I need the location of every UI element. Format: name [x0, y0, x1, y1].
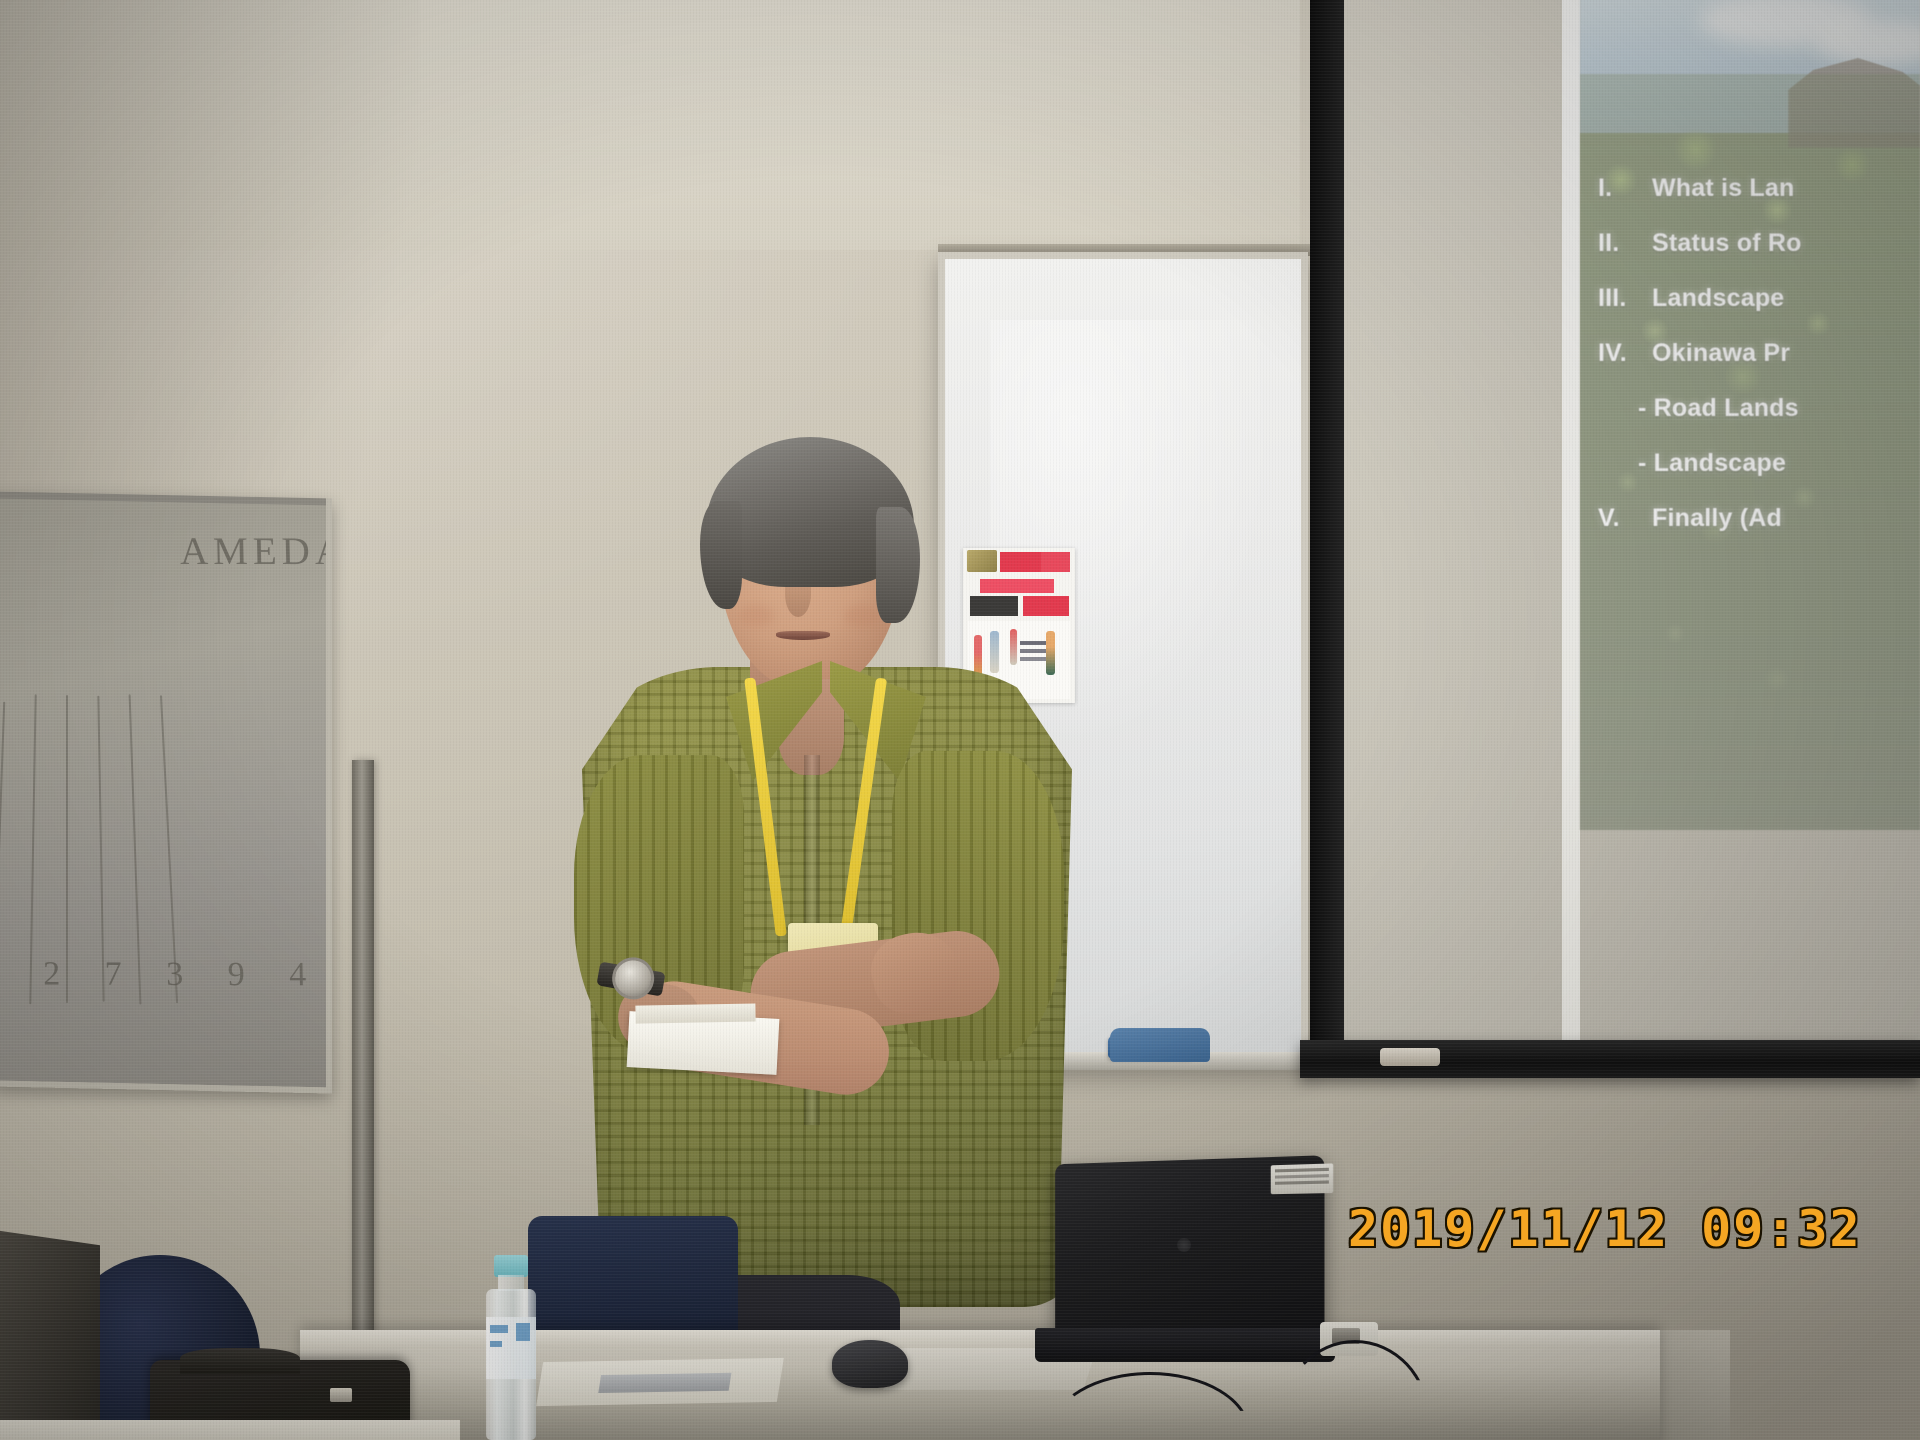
cheek-left — [738, 605, 774, 627]
computer-mouse — [832, 1340, 908, 1388]
sticker-text-line — [1275, 1168, 1329, 1173]
label-mark — [516, 1323, 530, 1341]
slide-item-number: III. — [1598, 286, 1652, 311]
left-whiteboard-surface: AMEDA 6 2 7 3 9 4 8 — [0, 497, 326, 1087]
slide-item-text: Status of Ro — [1652, 231, 1802, 256]
bottle-label — [486, 1317, 536, 1379]
slide-item-text: What is Lan — [1652, 176, 1794, 201]
mouth — [776, 631, 830, 640]
chair-backrest — [528, 1216, 738, 1346]
foreground-panel — [0, 1228, 100, 1440]
laptop-asset-sticker — [1271, 1163, 1334, 1194]
slide-agenda-item: I. What is Lan — [1598, 176, 1920, 201]
projector-screen-left-frame — [1310, 0, 1344, 1045]
plastic-water-bottle — [478, 1255, 544, 1440]
wristwatch — [594, 948, 668, 1011]
handout-papers — [627, 1011, 780, 1075]
watch-face — [609, 954, 658, 1003]
laptop-lid — [1055, 1155, 1324, 1342]
slide-agenda-subitem: - Landscape — [1598, 451, 1920, 476]
whiteboard-numbers: 6 2 7 3 9 4 8 — [0, 955, 326, 1032]
slide-item-number: IV. — [1598, 341, 1652, 366]
left-whiteboard: AMEDA 6 2 7 3 9 4 8 — [0, 491, 332, 1093]
lecture-room-photograph: AMEDA 6 2 7 3 9 4 8 — [0, 0, 1920, 1440]
slide-item-text: - Road Lands — [1638, 396, 1799, 421]
slide-item-text: Okinawa Pr — [1652, 341, 1790, 366]
blue-chair-backrest — [1110, 1028, 1210, 1062]
slide-agenda-item: II. Status of Ro — [1598, 231, 1920, 256]
black-laptop — [1035, 1160, 1335, 1365]
slide-agenda-item: IV. Okinawa Pr — [1598, 341, 1920, 366]
slide-item-number: V. — [1598, 506, 1652, 531]
screen-pull-handle — [1380, 1048, 1440, 1066]
slide-item-number: II. — [1598, 231, 1652, 256]
projector-screen-highlight — [1562, 0, 1580, 1040]
label-mark — [490, 1341, 502, 1347]
slide-item-number: I. — [1598, 176, 1652, 201]
hair-right-side — [876, 507, 920, 623]
slide-item-text: Landscape — [1652, 286, 1784, 311]
projector-screen-bottom-bar — [1300, 1040, 1920, 1078]
camera-timestamp: 2019/11/12 09:32 — [1348, 1200, 1862, 1258]
slide-agenda-item: III. Landscape — [1598, 286, 1920, 311]
bag-zipper-pull — [330, 1388, 352, 1402]
projected-slide: I. What is Lan II. Status of Ro III. Lan… — [1580, 0, 1920, 830]
laptop-base — [1035, 1328, 1335, 1362]
whiteboard-label-ameda: AMEDA — [180, 529, 326, 574]
cheek-right — [844, 605, 880, 627]
slide-agenda-item: V. Finally (Ad — [1598, 506, 1920, 531]
slide-agenda-list: I. What is Lan II. Status of Ro III. Lan… — [1580, 176, 1920, 561]
foreground-desk-surface — [0, 1420, 460, 1440]
desk-papers — [536, 1358, 784, 1406]
label-mark — [490, 1325, 508, 1333]
laptop-logo — [1177, 1238, 1191, 1252]
slide-agenda-subitem: - Road Lands — [1598, 396, 1920, 421]
bottle-cap — [494, 1255, 528, 1277]
slide-item-text: - Landscape — [1638, 451, 1786, 476]
slide-item-text: Finally (Ad — [1652, 506, 1782, 531]
whiteboard-support-post — [352, 760, 374, 1390]
